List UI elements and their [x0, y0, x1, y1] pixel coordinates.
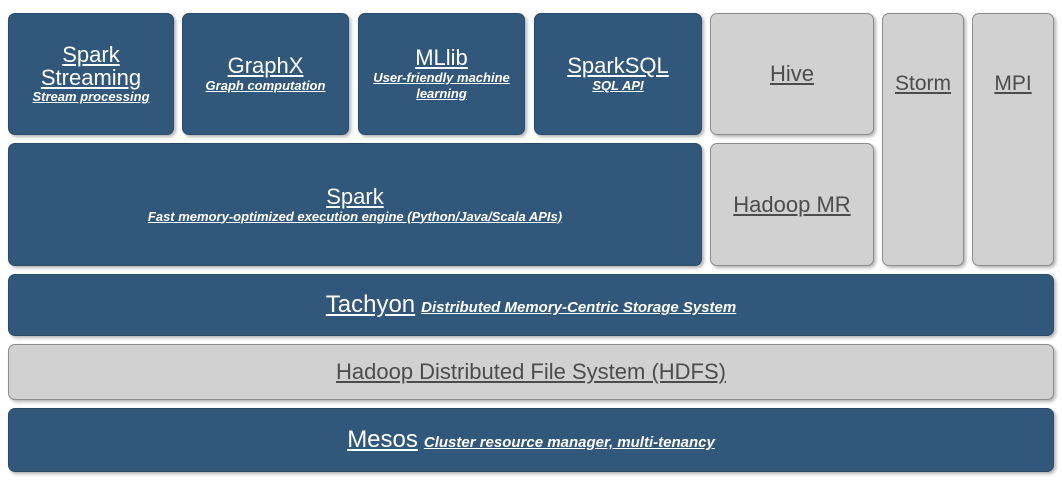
sparksql-title: SparkSQL [567, 54, 669, 78]
component-storm[interactable]: Storm [882, 13, 964, 266]
component-spark-streaming[interactable]: Spark Streaming Stream processing [8, 13, 174, 135]
component-mllib[interactable]: MLlib User-friendly machine learning [358, 13, 525, 135]
mllib-title: MLlib [415, 46, 468, 70]
architecture-stack-diagram: Spark Streaming Stream processing GraphX… [0, 0, 1062, 480]
hadoop-mr-title: Hadoop MR [733, 193, 850, 217]
mllib-subtitle: User-friendly machine learning [365, 70, 518, 102]
component-hdfs[interactable]: Hadoop Distributed File System (HDFS) [8, 344, 1054, 400]
spark-engine-subtitle: Fast memory-optimized execution engine (… [148, 209, 562, 225]
component-hadoop-mr[interactable]: Hadoop MR [710, 143, 874, 266]
tachyon-title: Tachyon [326, 292, 415, 318]
mesos-subtitle: Cluster resource manager, multi-tenancy [424, 434, 715, 451]
graphx-title: GraphX [228, 54, 304, 78]
component-graphx[interactable]: GraphX Graph computation [182, 13, 349, 135]
storm-title: Storm [895, 72, 951, 95]
hdfs-title: Hadoop Distributed File System (HDFS) [336, 360, 726, 384]
component-spark-engine[interactable]: Spark Fast memory-optimized execution en… [8, 143, 702, 266]
spark-streaming-title: Spark Streaming [41, 43, 141, 89]
spark-streaming-title-line2: Streaming [41, 65, 141, 90]
component-hive[interactable]: Hive [710, 13, 874, 135]
mesos-text-row: Mesos Cluster resource manager, multi-te… [347, 427, 715, 453]
mesos-title: Mesos [347, 427, 418, 453]
component-mpi[interactable]: MPI [972, 13, 1054, 266]
spark-streaming-subtitle: Stream processing [32, 89, 149, 105]
mpi-title: MPI [994, 72, 1031, 95]
tachyon-text-row: Tachyon Distributed Memory-Centric Stora… [326, 292, 736, 318]
graphx-subtitle: Graph computation [206, 78, 326, 94]
spark-streaming-title-line1: Spark [62, 42, 119, 67]
component-mesos[interactable]: Mesos Cluster resource manager, multi-te… [8, 408, 1054, 472]
spark-engine-title: Spark [326, 185, 383, 209]
component-sparksql[interactable]: SparkSQL SQL API [534, 13, 702, 135]
sparksql-subtitle: SQL API [592, 78, 643, 94]
component-tachyon[interactable]: Tachyon Distributed Memory-Centric Stora… [8, 274, 1054, 336]
hive-title: Hive [770, 62, 814, 86]
tachyon-subtitle: Distributed Memory-Centric Storage Syste… [421, 299, 736, 316]
